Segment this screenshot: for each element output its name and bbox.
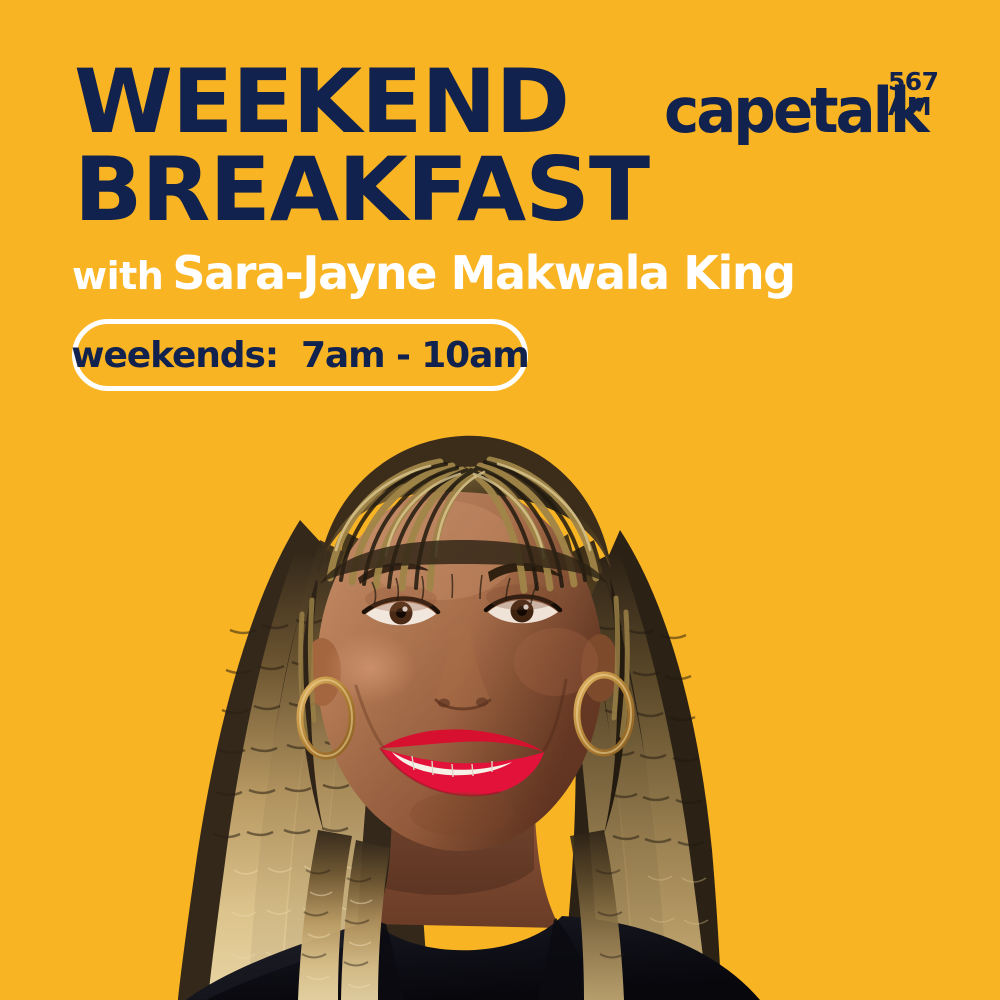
host-line: withSara-Jayne Makwala King xyxy=(72,246,795,300)
schedule-badge: weekends: 7am - 10am xyxy=(72,319,528,391)
show-title-line2: BREAKFAST xyxy=(74,146,649,234)
host-portrait-illustration xyxy=(0,400,1000,1000)
show-title-line1: WEEKEND xyxy=(74,58,649,146)
host-prefix: with xyxy=(72,254,163,298)
capetalk-logo[interactable]: capetalk 567 AM xyxy=(664,60,964,140)
host-portrait xyxy=(0,400,1000,1000)
radio-show-poster: capetalk 567 AM WEEKEND BREAKFAST withSa… xyxy=(0,0,1000,1000)
schedule-badge-label: weekends: 7am - 10am xyxy=(71,335,528,376)
show-title: WEEKEND BREAKFAST xyxy=(74,58,638,234)
logo-frequency: 567 AM xyxy=(888,69,964,119)
host-name: Sara-Jayne Makwala King xyxy=(172,246,794,300)
